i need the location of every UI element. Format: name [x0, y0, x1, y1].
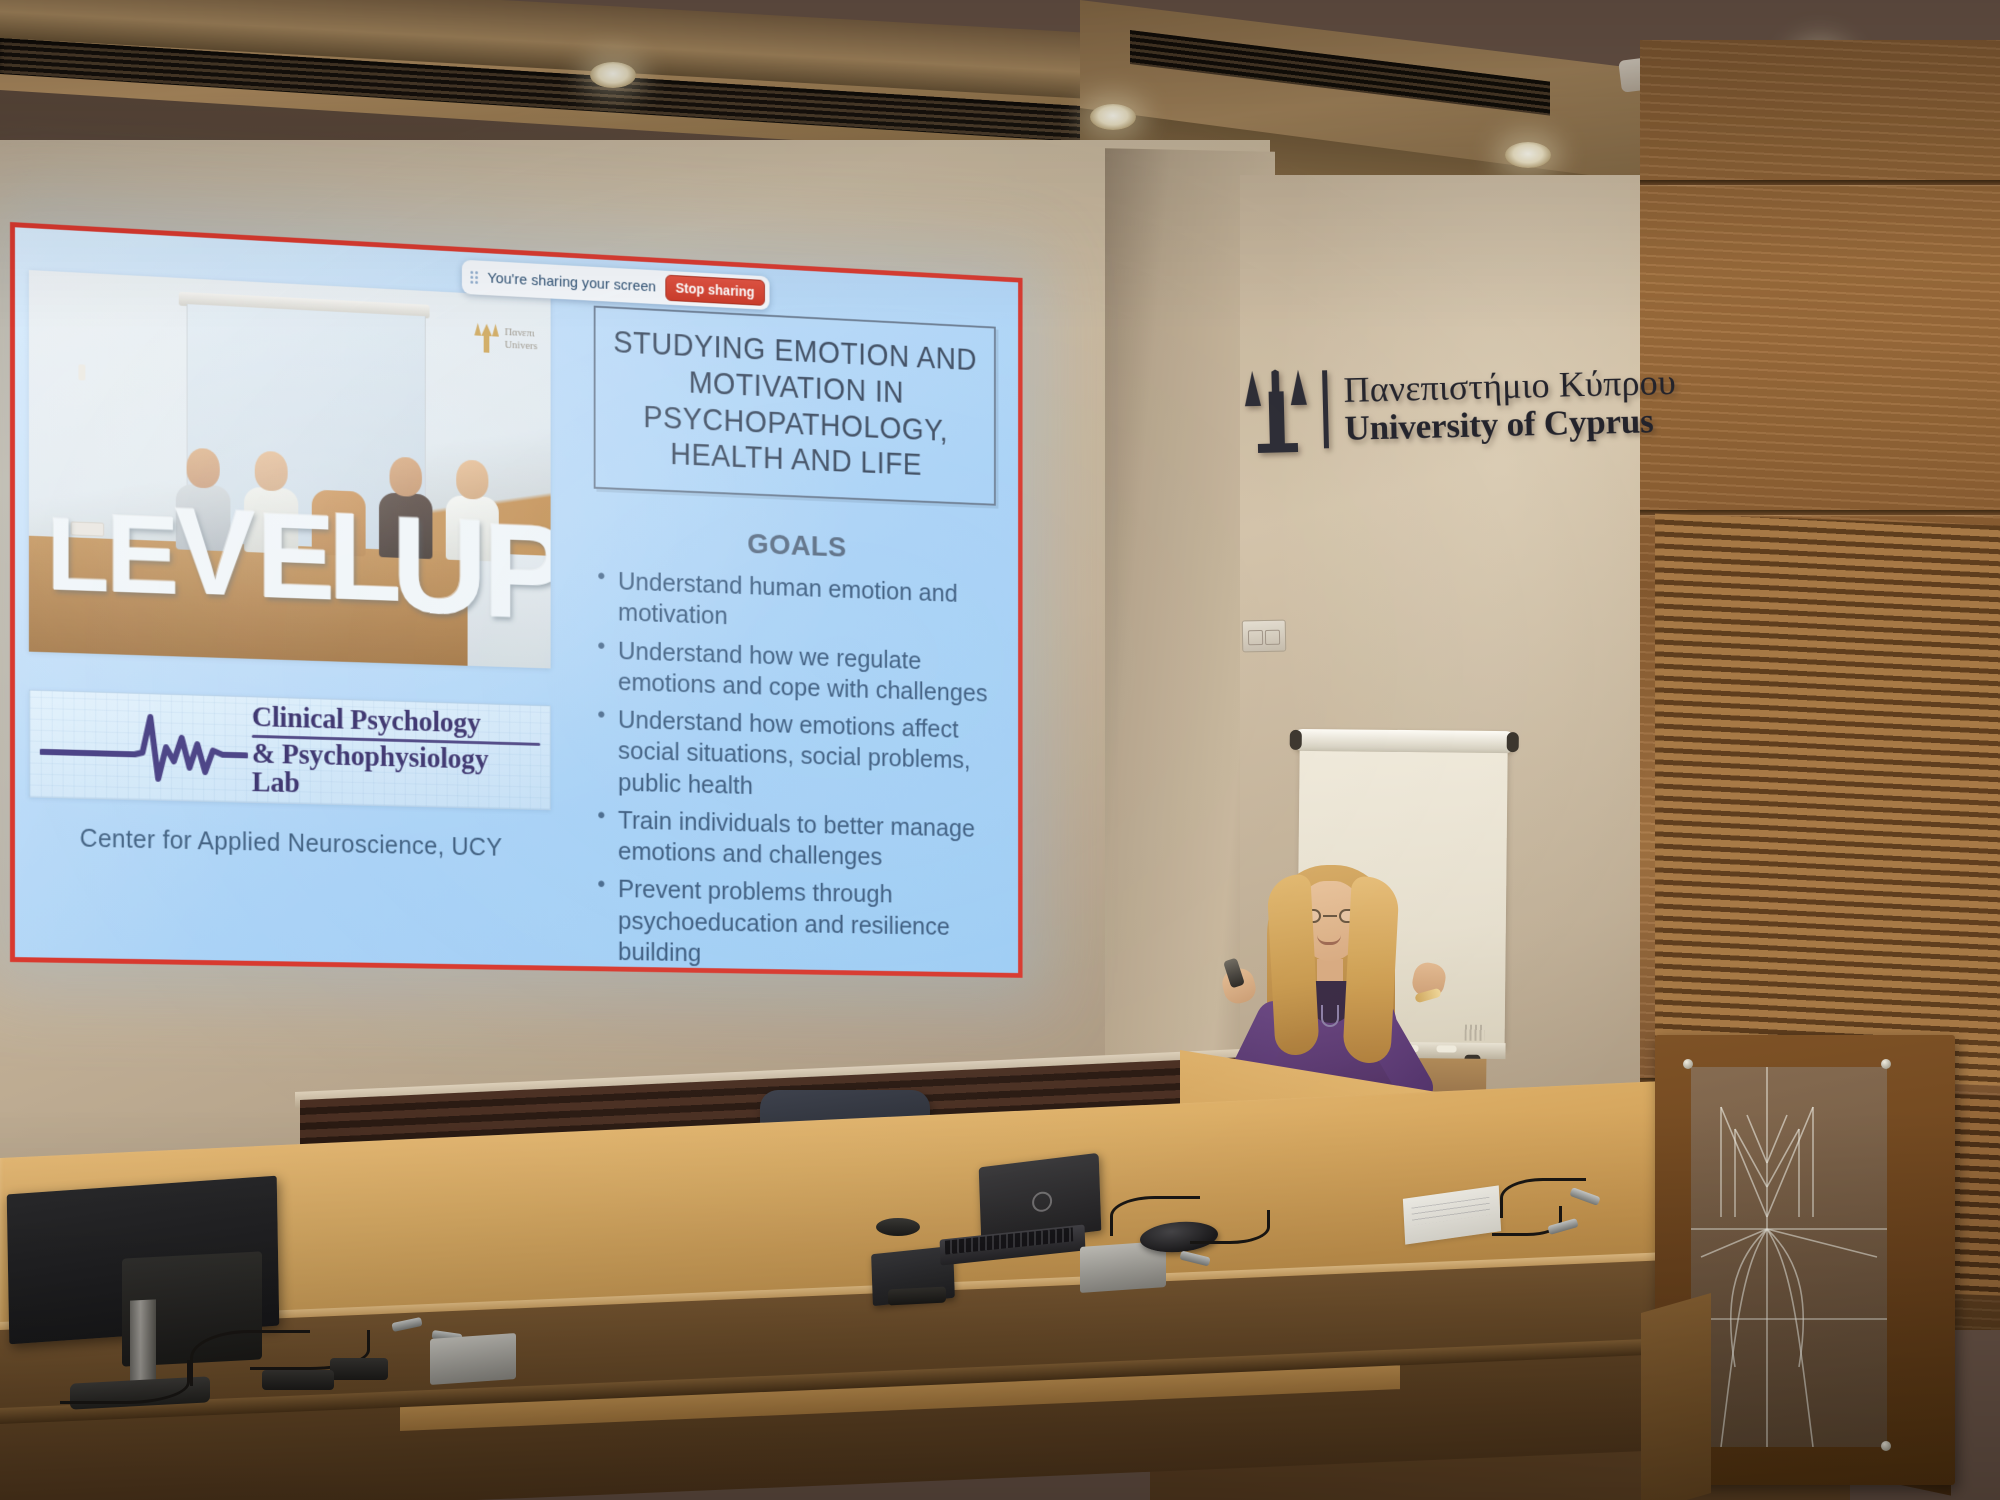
cable: [60, 1360, 190, 1404]
ceiling-downlight: [1090, 104, 1136, 130]
university-of-cyprus-wall-logo: Πανεπιστήμιο Κύπρου University of Cyprus: [1244, 360, 1677, 453]
microphone-base: [888, 1286, 946, 1305]
photo-letter: E: [106, 507, 179, 603]
wall-power-outlet: [1242, 620, 1287, 653]
table-microphone: [876, 1218, 920, 1236]
lab-logo-line2: & Psychophysiology Lab: [252, 739, 540, 803]
flipchart-roller: [1292, 729, 1517, 753]
logo-divider: [1322, 370, 1329, 448]
power-adapter: [262, 1370, 334, 1390]
slide-title-box: STUDYING EMOTION AND MOTIVATION IN PSYCH…: [594, 306, 996, 506]
ucy-tree-icon: [474, 323, 499, 353]
cable: [1110, 1196, 1200, 1236]
photo-letter: E: [257, 505, 336, 609]
stop-sharing-button[interactable]: Stop sharing: [665, 275, 764, 306]
presentation-slide: You're sharing your screen Stop sharing …: [15, 227, 1018, 973]
goal-item: Prevent problems through psychoeducation…: [594, 873, 996, 973]
level-up-letters: L E V E L U P: [29, 448, 551, 616]
panel-mount-stud: [1881, 1059, 1891, 1069]
drag-dots-icon[interactable]: [470, 271, 478, 284]
presenter-hair-left: [1266, 874, 1319, 1056]
photo-letter: L: [47, 511, 110, 600]
goal-item: Understand how we regulate emotions and …: [594, 634, 996, 709]
sharing-status-text: You're sharing your screen: [487, 270, 656, 296]
goals-heading: GOALS: [594, 522, 996, 570]
power-adapter: [330, 1358, 388, 1380]
presenter-hair-right: [1342, 876, 1400, 1064]
ceiling-downlight: [590, 62, 636, 88]
desk-name-plate: [430, 1333, 516, 1385]
goal-item: Train individuals to better manage emoti…: [594, 803, 996, 874]
tree-line-art-icon: [1691, 1067, 1887, 1447]
lecture-hall-scene: Πανεπιστήμιο Κύπρου University of Cyprus: [0, 0, 2000, 1500]
clinical-psychology-lab-logo: Clinical Psychology & Psychophysiology L…: [29, 690, 551, 811]
cable: [1190, 1210, 1270, 1244]
ecg-waveform-icon: [40, 706, 248, 787]
photo-ucy-english: Univers: [505, 339, 538, 353]
lectern: [1655, 1035, 1955, 1500]
ucy-logo-english: University of Cyprus: [1344, 401, 1677, 447]
goal-item: Understand human emotion and motivation: [594, 564, 996, 640]
level-up-team-photo: Πανεπι Univers: [29, 270, 551, 668]
photo-letter: U: [391, 507, 487, 626]
slide-caption: Center for Applied Neuroscience, UCY: [29, 823, 551, 863]
wood-slat-panel: [1655, 514, 2000, 1087]
photo-light-switch: [78, 364, 85, 380]
wood-seam: [1640, 180, 2000, 185]
lab-logo-line1: Clinical Psychology: [252, 703, 540, 740]
ucy-tree-emblem-icon: [1244, 369, 1308, 452]
photo-letter: P: [483, 514, 551, 630]
panel-mount-stud: [1683, 1059, 1693, 1069]
slide-left-column: Πανεπι Univers: [29, 270, 553, 864]
photo-ucy-logo: Πανεπι Univers: [474, 323, 537, 355]
ceiling-downlight: [1505, 142, 1551, 168]
etched-glass-tree-panel: [1691, 1067, 1887, 1447]
lectern-ledge: [1641, 1293, 1711, 1500]
panel-mount-stud: [1881, 1441, 1891, 1451]
slide-right-column: STUDYING EMOTION AND MOTIVATION IN PSYCH…: [594, 306, 996, 973]
projection-screen: You're sharing your screen Stop sharing …: [10, 222, 1023, 978]
goals-list: Understand human emotion and motivation …: [594, 564, 996, 972]
presenter-necklace: [1321, 1005, 1339, 1027]
photo-letter: V: [175, 500, 256, 606]
goal-item: Understand how emotions affect social si…: [594, 703, 996, 807]
